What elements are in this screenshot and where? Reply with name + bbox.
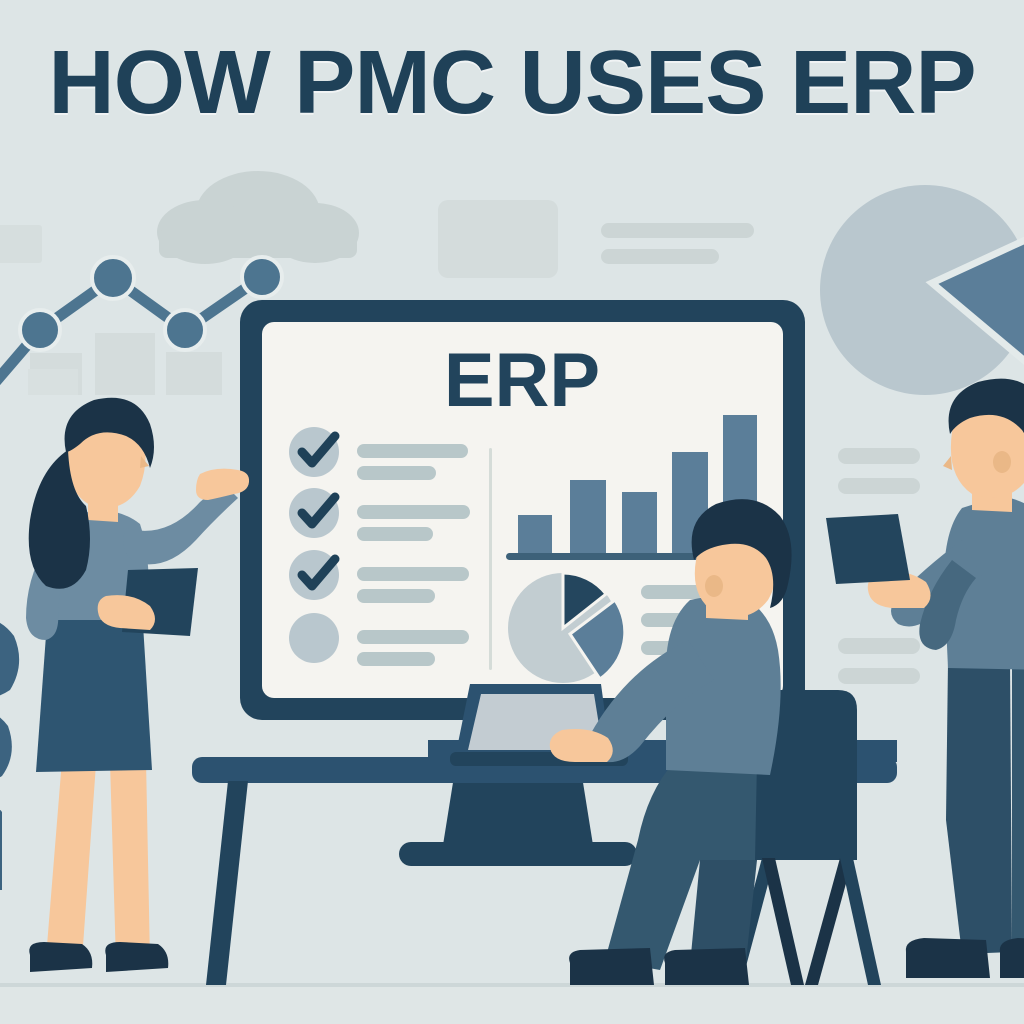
checklist-line-long xyxy=(357,567,469,581)
checklist-line-long xyxy=(357,505,470,519)
page-title: HOW PMC USES ERP xyxy=(0,38,1024,128)
checklist-line-short xyxy=(357,466,436,480)
monitor-divider xyxy=(489,448,492,670)
bar xyxy=(622,492,657,555)
bar xyxy=(518,515,552,555)
monitor-heading: ERP xyxy=(444,338,600,423)
decor-card-top xyxy=(438,200,558,278)
decor-tile-left xyxy=(0,225,42,263)
checklist-line-short xyxy=(357,652,435,666)
bar xyxy=(570,480,606,555)
background-pie-chart xyxy=(820,185,1024,395)
illustration-scene: ERP xyxy=(0,0,1024,1024)
floor-band xyxy=(0,985,1024,1024)
check-circle-icon-empty[interactable] xyxy=(289,613,339,663)
checklist-line-long xyxy=(357,630,469,644)
checklist-line-short xyxy=(357,527,433,541)
checklist-line-short xyxy=(357,589,435,603)
illustration-canvas: ERP xyxy=(0,0,1024,1024)
checklist-line-long xyxy=(357,444,468,458)
